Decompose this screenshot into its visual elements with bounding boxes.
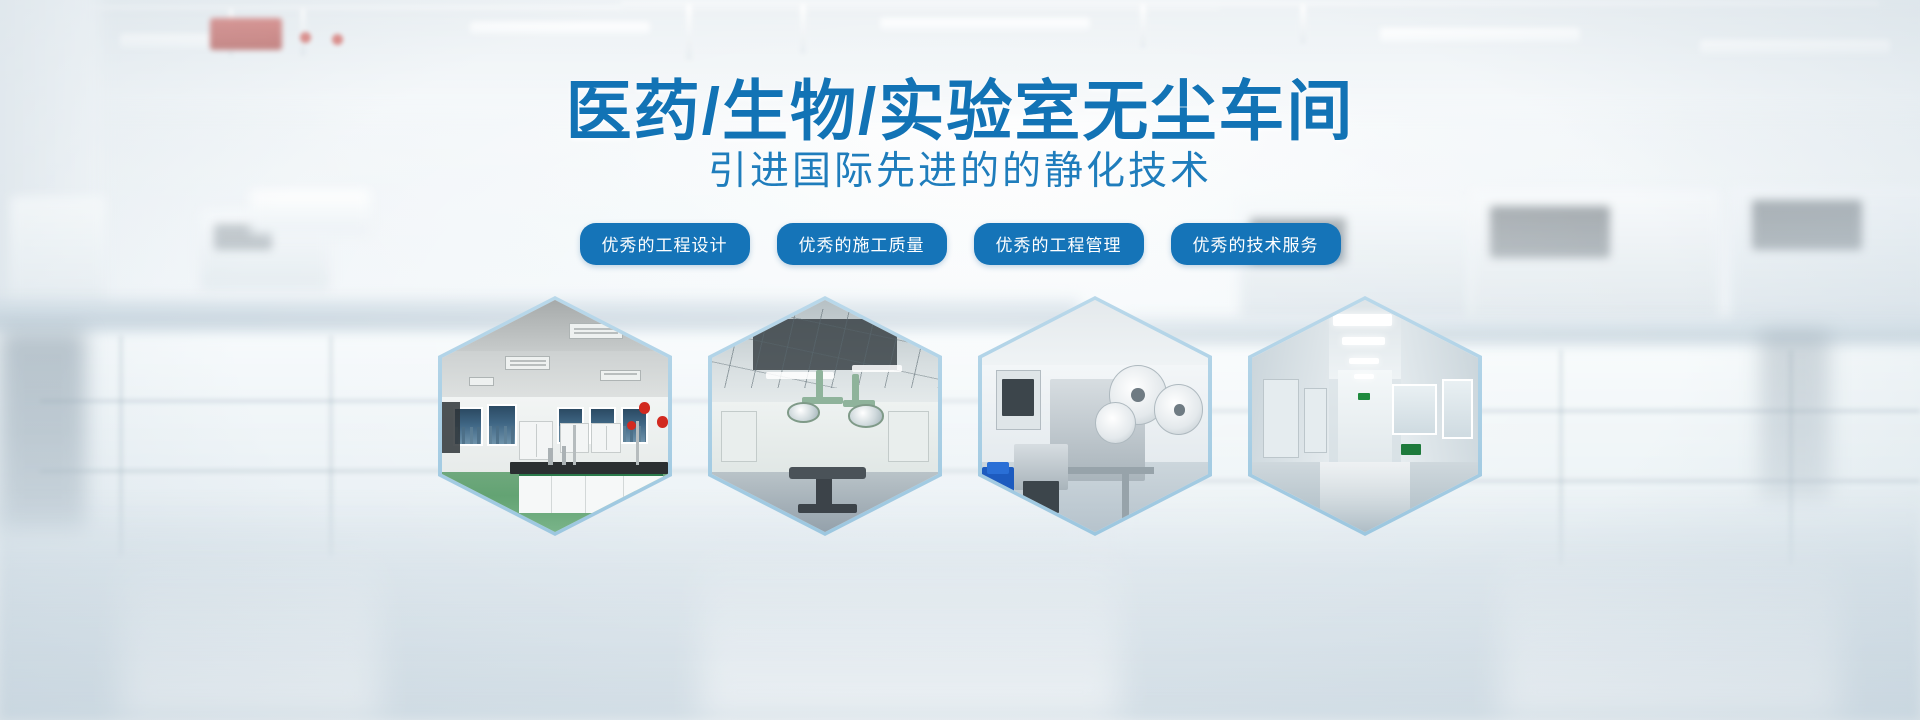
hexagon-cleanroom-corridor-photo[interactable] xyxy=(1248,296,1482,536)
feature-pill-technical-service[interactable]: 优秀的技术服务 xyxy=(1171,223,1341,265)
page-title: 医药/生物/实验室无尘车间 xyxy=(0,78,1920,144)
hexagon-laboratory-cleanroom-photo[interactable] xyxy=(438,296,672,536)
hexagon-image-clip xyxy=(712,300,938,532)
hexagon-production-machinery-photo[interactable] xyxy=(978,296,1212,536)
corridor-scene xyxy=(1252,300,1478,532)
hexagon-image-clip xyxy=(1252,300,1478,532)
hero-banner: 医药/生物/实验室无尘车间 引进国际先进的的静化技术 优秀的工程设计 优秀的施工… xyxy=(0,0,1920,720)
hexagon-operating-room-photo[interactable] xyxy=(708,296,942,536)
feature-pill-list: 优秀的工程设计 优秀的施工质量 优秀的工程管理 优秀的技术服务 xyxy=(0,223,1920,265)
hexagon-image-clip xyxy=(442,300,668,532)
feature-pill-project-management[interactable]: 优秀的工程管理 xyxy=(974,223,1144,265)
hexagon-image-clip xyxy=(982,300,1208,532)
hexagon-gallery xyxy=(0,296,1920,536)
laboratory-scene xyxy=(442,300,668,532)
production-machinery-scene xyxy=(982,300,1208,532)
feature-pill-construction-quality[interactable]: 优秀的施工质量 xyxy=(777,223,947,265)
operating-room-scene xyxy=(712,300,938,532)
page-subtitle: 引进国际先进的的静化技术 xyxy=(0,152,1920,191)
feature-pill-engineering-design[interactable]: 优秀的工程设计 xyxy=(580,223,750,265)
